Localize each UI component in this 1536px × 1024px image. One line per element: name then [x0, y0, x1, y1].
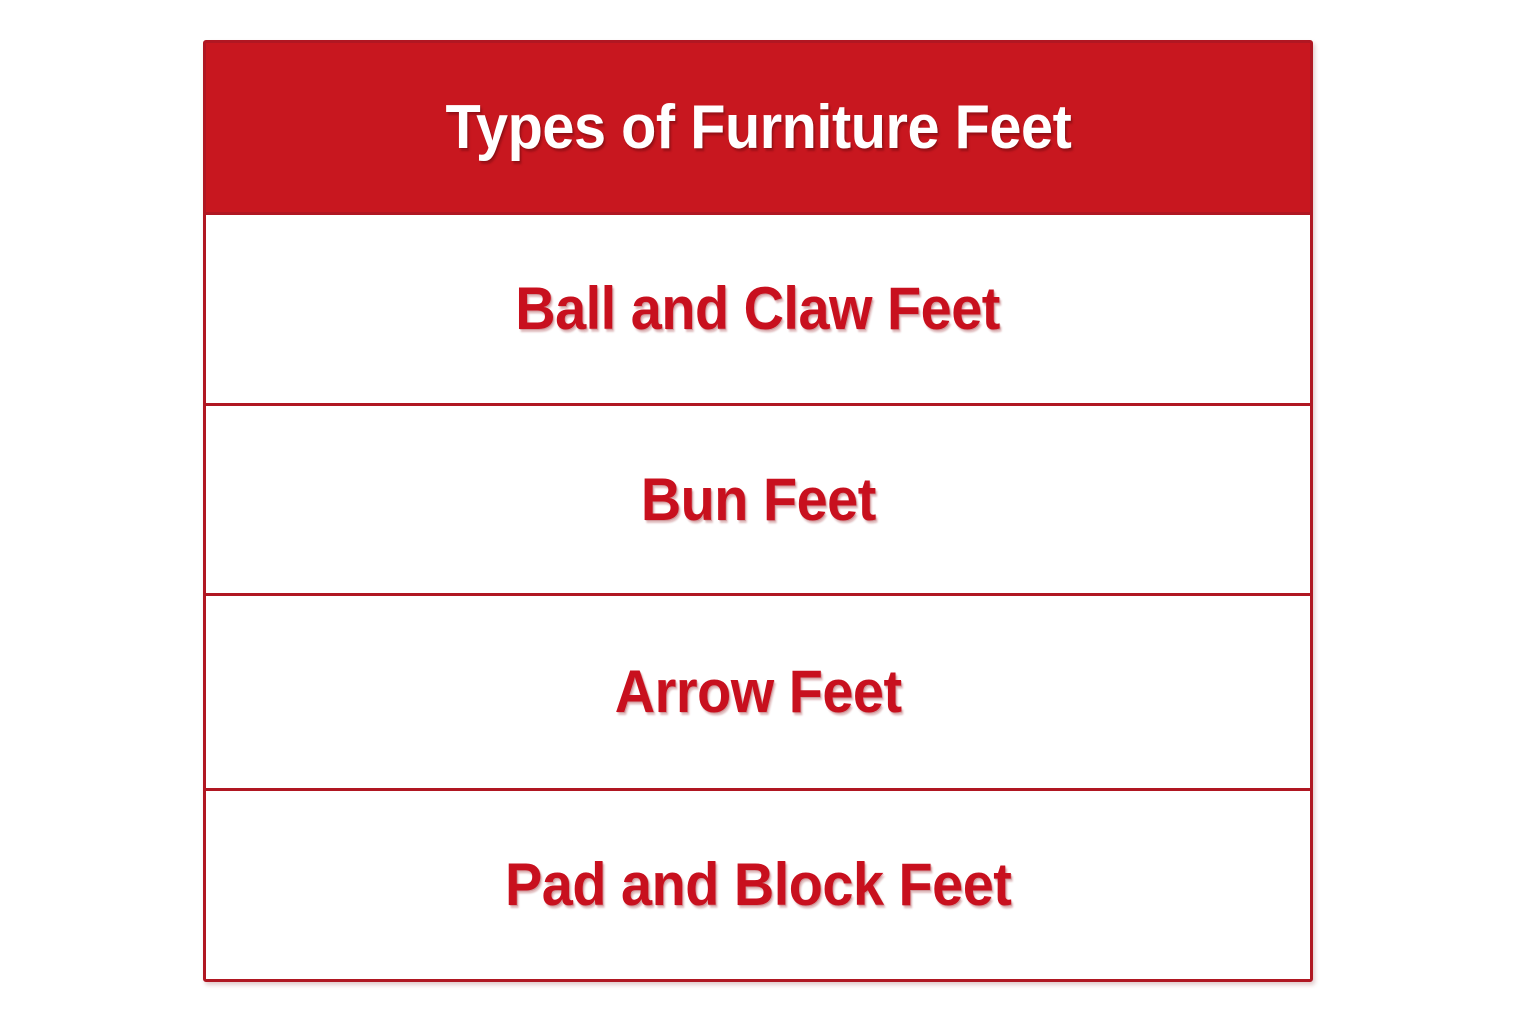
- table-row: Bun Feet: [206, 406, 1310, 596]
- page-canvas: Types of Furniture Feet Ball and Claw Fe…: [0, 0, 1536, 1024]
- page-title: Types of Furniture Feet: [445, 97, 1071, 159]
- table-row-label: Pad and Block Feet: [505, 855, 1011, 915]
- table-row-label: Ball and Claw Feet: [516, 279, 1001, 339]
- table-row: Arrow Feet: [206, 596, 1310, 791]
- table-row: Pad and Block Feet: [206, 791, 1310, 979]
- table-row: Ball and Claw Feet: [206, 215, 1310, 406]
- furniture-feet-table: Types of Furniture Feet Ball and Claw Fe…: [203, 40, 1313, 982]
- table-row-label: Bun Feet: [640, 470, 875, 530]
- table-row-label: Arrow Feet: [615, 662, 902, 722]
- table-header: Types of Furniture Feet: [206, 43, 1310, 215]
